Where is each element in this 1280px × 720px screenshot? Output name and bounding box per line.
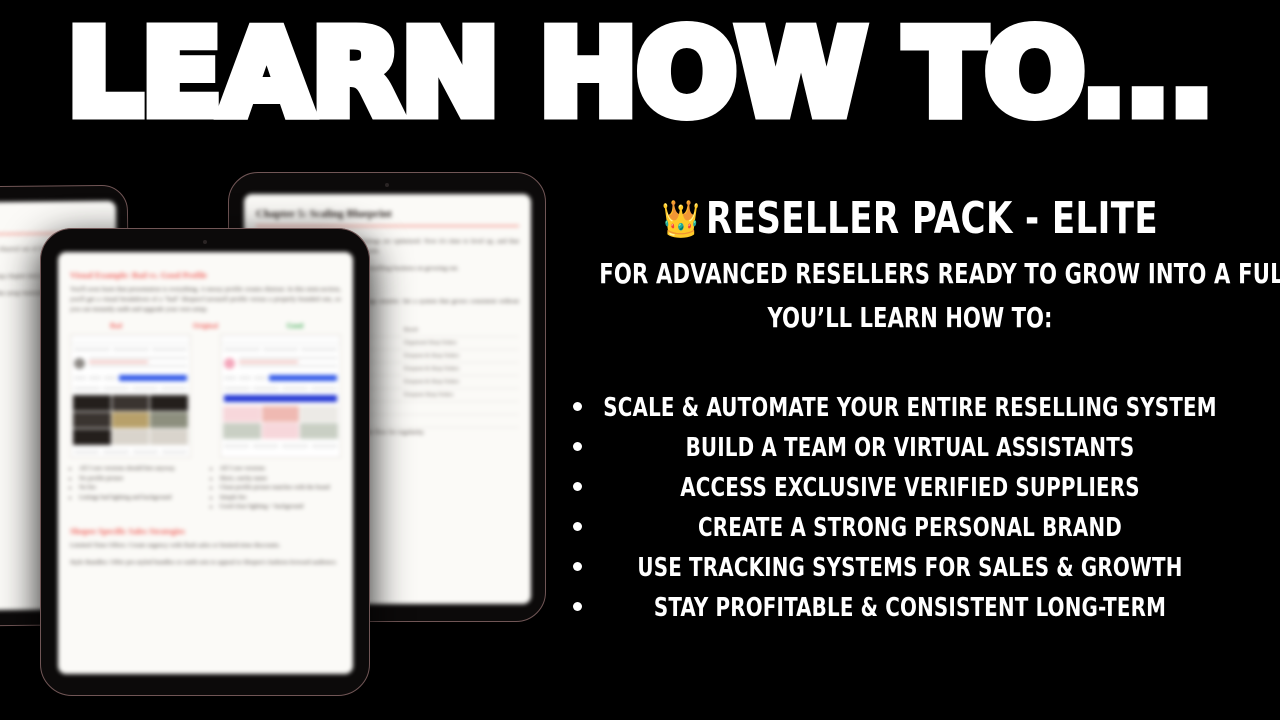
- doc-heading: Visual Example: Bad vs. Good Profile: [70, 270, 341, 280]
- doc-rule: [256, 225, 519, 227]
- bad-list-column: All 5 raw versions should hire anyway. N…: [70, 464, 201, 518]
- screenshot-profile-row: [221, 354, 340, 372]
- benefit-label: BUILD A TEAM OR VIRTUAL ASSISTANTS: [596, 428, 1225, 468]
- screenshot-header: [221, 335, 340, 345]
- comparison-screenshots: [70, 334, 341, 458]
- document-page-front: Visual Example: Bad vs. Good Profile You…: [58, 252, 353, 585]
- follow-button: [119, 375, 187, 381]
- screenshot-tabs: [221, 345, 340, 354]
- offer-subtitle-line1: FOR ADVANCED RESELLERS READY TO GROW INT…: [599, 258, 1221, 290]
- list-item: Simple bio: [220, 493, 342, 503]
- screenshot-footer: [221, 441, 340, 451]
- list-item: Clean profile picture matches with the b…: [220, 483, 342, 493]
- list-item: SCALE & AUTOMATE YOUR ENTIRE RESELLING S…: [540, 388, 1280, 428]
- screenshot-text-lines: [89, 357, 187, 369]
- poster-canvas: LEARN HOW TO... …amp Setup Lorem ipsum p…: [0, 0, 1280, 720]
- table-cell: Frequent & Shop Orders: [402, 375, 519, 388]
- table-cell: Frequent Shop Orders: [402, 388, 519, 401]
- product-title-row: 👑RESELLER PACK - ELITE: [592, 194, 1228, 245]
- bullet-icon: [573, 402, 582, 411]
- doc-heading: …amp Setup: [0, 215, 104, 229]
- table-cell: Result: [402, 324, 519, 337]
- screenshot-good-profile: [220, 334, 341, 458]
- table-cell: Frequent & Shop Orders: [402, 349, 519, 362]
- label-original: Original: [161, 322, 249, 330]
- camera-icon: [385, 183, 389, 187]
- screenshot-header: [71, 335, 190, 345]
- benefit-label: STAY PROFITABLE & CONSISTENT LONG-TERM: [596, 588, 1225, 628]
- offer-panel: 👑RESELLER PACK - ELITE FOR ADVANCED RESE…: [540, 0, 1280, 720]
- screenshot-tabs: [71, 345, 190, 354]
- table-cell: Organized Shop Orders: [402, 336, 519, 349]
- offer-subtitle-line2: YOU’LL LEARN HOW TO:: [599, 302, 1221, 334]
- list-item: USE TRACKING SYSTEMS FOR SALES & GROWTH: [540, 548, 1280, 588]
- screenshot-subtabs: [221, 384, 340, 393]
- bullet-icon: [573, 482, 582, 491]
- comparison-lists: All 5 raw versions should hire anyway. N…: [70, 464, 341, 518]
- list-item: All 5 raw versions: [220, 464, 342, 474]
- product-title: RESELLER PACK - ELITE: [706, 193, 1158, 244]
- list-item: No profile picture: [79, 474, 201, 484]
- list-item: ACCESS EXCLUSIVE VERIFIED SUPPLIERS: [540, 468, 1280, 508]
- screenshot-button-row: [221, 372, 340, 384]
- doc-paragraph: Style Bundles: Offer pre-styled bundles …: [70, 558, 341, 568]
- list-item: Short, catchy name: [220, 474, 342, 484]
- follow-button: [269, 375, 337, 381]
- bullet-icon: [573, 602, 582, 611]
- bullet-icon: [573, 442, 582, 451]
- tablet-mockup-front: Visual Example: Bad vs. Good Profile You…: [40, 228, 370, 696]
- bad-list: All 5 raw versions should hire anyway. N…: [70, 464, 201, 502]
- benefit-label: ACCESS EXCLUSIVE VERIFIED SUPPLIERS: [596, 468, 1225, 508]
- screenshot-button-row: [71, 372, 190, 384]
- label-good: Good: [251, 322, 339, 330]
- list-item: No bio: [79, 483, 201, 493]
- benefits-list: SCALE & AUTOMATE YOUR ENTIRE RESELLING S…: [540, 388, 1280, 628]
- table-cell: [402, 414, 519, 427]
- screenshot-footer: [71, 447, 190, 457]
- screenshot-text-lines: [239, 357, 337, 369]
- list-item: Good clear lighting + background: [220, 502, 342, 512]
- bullet-icon: [573, 562, 582, 571]
- list-item: CREATE A STRONG PERSONAL BRAND: [540, 508, 1280, 548]
- screenshot-photo-grid: [221, 404, 340, 441]
- doc-paragraph: Limited-Time Offers: Create urgency with…: [70, 541, 341, 551]
- good-list: All 5 raw versions Short, catchy name Cl…: [211, 464, 342, 512]
- bullet-icon: [573, 522, 582, 531]
- doc-paragraph: You'll soon learn that presentation is e…: [70, 285, 341, 315]
- benefit-label: USE TRACKING SYSTEMS FOR SALES & GROWTH: [596, 548, 1225, 588]
- screenshot-subtabs: [71, 384, 190, 393]
- screenshot-photo-grid: [71, 393, 190, 447]
- crown-icon: 👑: [662, 199, 701, 240]
- tablet-screen-front: Visual Example: Bad vs. Good Profile You…: [58, 252, 353, 674]
- benefit-label: CREATE A STRONG PERSONAL BRAND: [596, 508, 1225, 548]
- doc-subheading: Shopee Specific Sales Strategies: [70, 526, 341, 536]
- screenshot-profile-row: [71, 354, 190, 372]
- doc-heading: Chapter 5: Scaling Blueprint: [256, 208, 519, 220]
- list-item: BUILD A TEAM OR VIRTUAL ASSISTANTS: [540, 428, 1280, 468]
- list-item: STAY PROFITABLE & CONSISTENT LONG-TERM: [540, 588, 1280, 628]
- screenshot-bad-profile: [70, 334, 191, 458]
- table-cell: Frequent & Shop Orders: [402, 362, 519, 375]
- benefit-label: SCALE & AUTOMATE YOUR ENTIRE RESELLING S…: [596, 388, 1225, 428]
- list-item: Listings bad lighting and background: [79, 493, 201, 503]
- promo-banner: [224, 395, 337, 402]
- list-item: All 5 raw versions should hire anyway.: [79, 464, 201, 474]
- label-bad: Bad: [72, 322, 160, 330]
- comparison-labels: Bad Original Good: [72, 322, 339, 330]
- camera-icon: [203, 240, 207, 244]
- avatar: [224, 358, 235, 369]
- table-cell: [402, 401, 519, 414]
- avatar: [74, 358, 85, 369]
- good-list-column: All 5 raw versions Short, catchy name Cl…: [211, 464, 342, 518]
